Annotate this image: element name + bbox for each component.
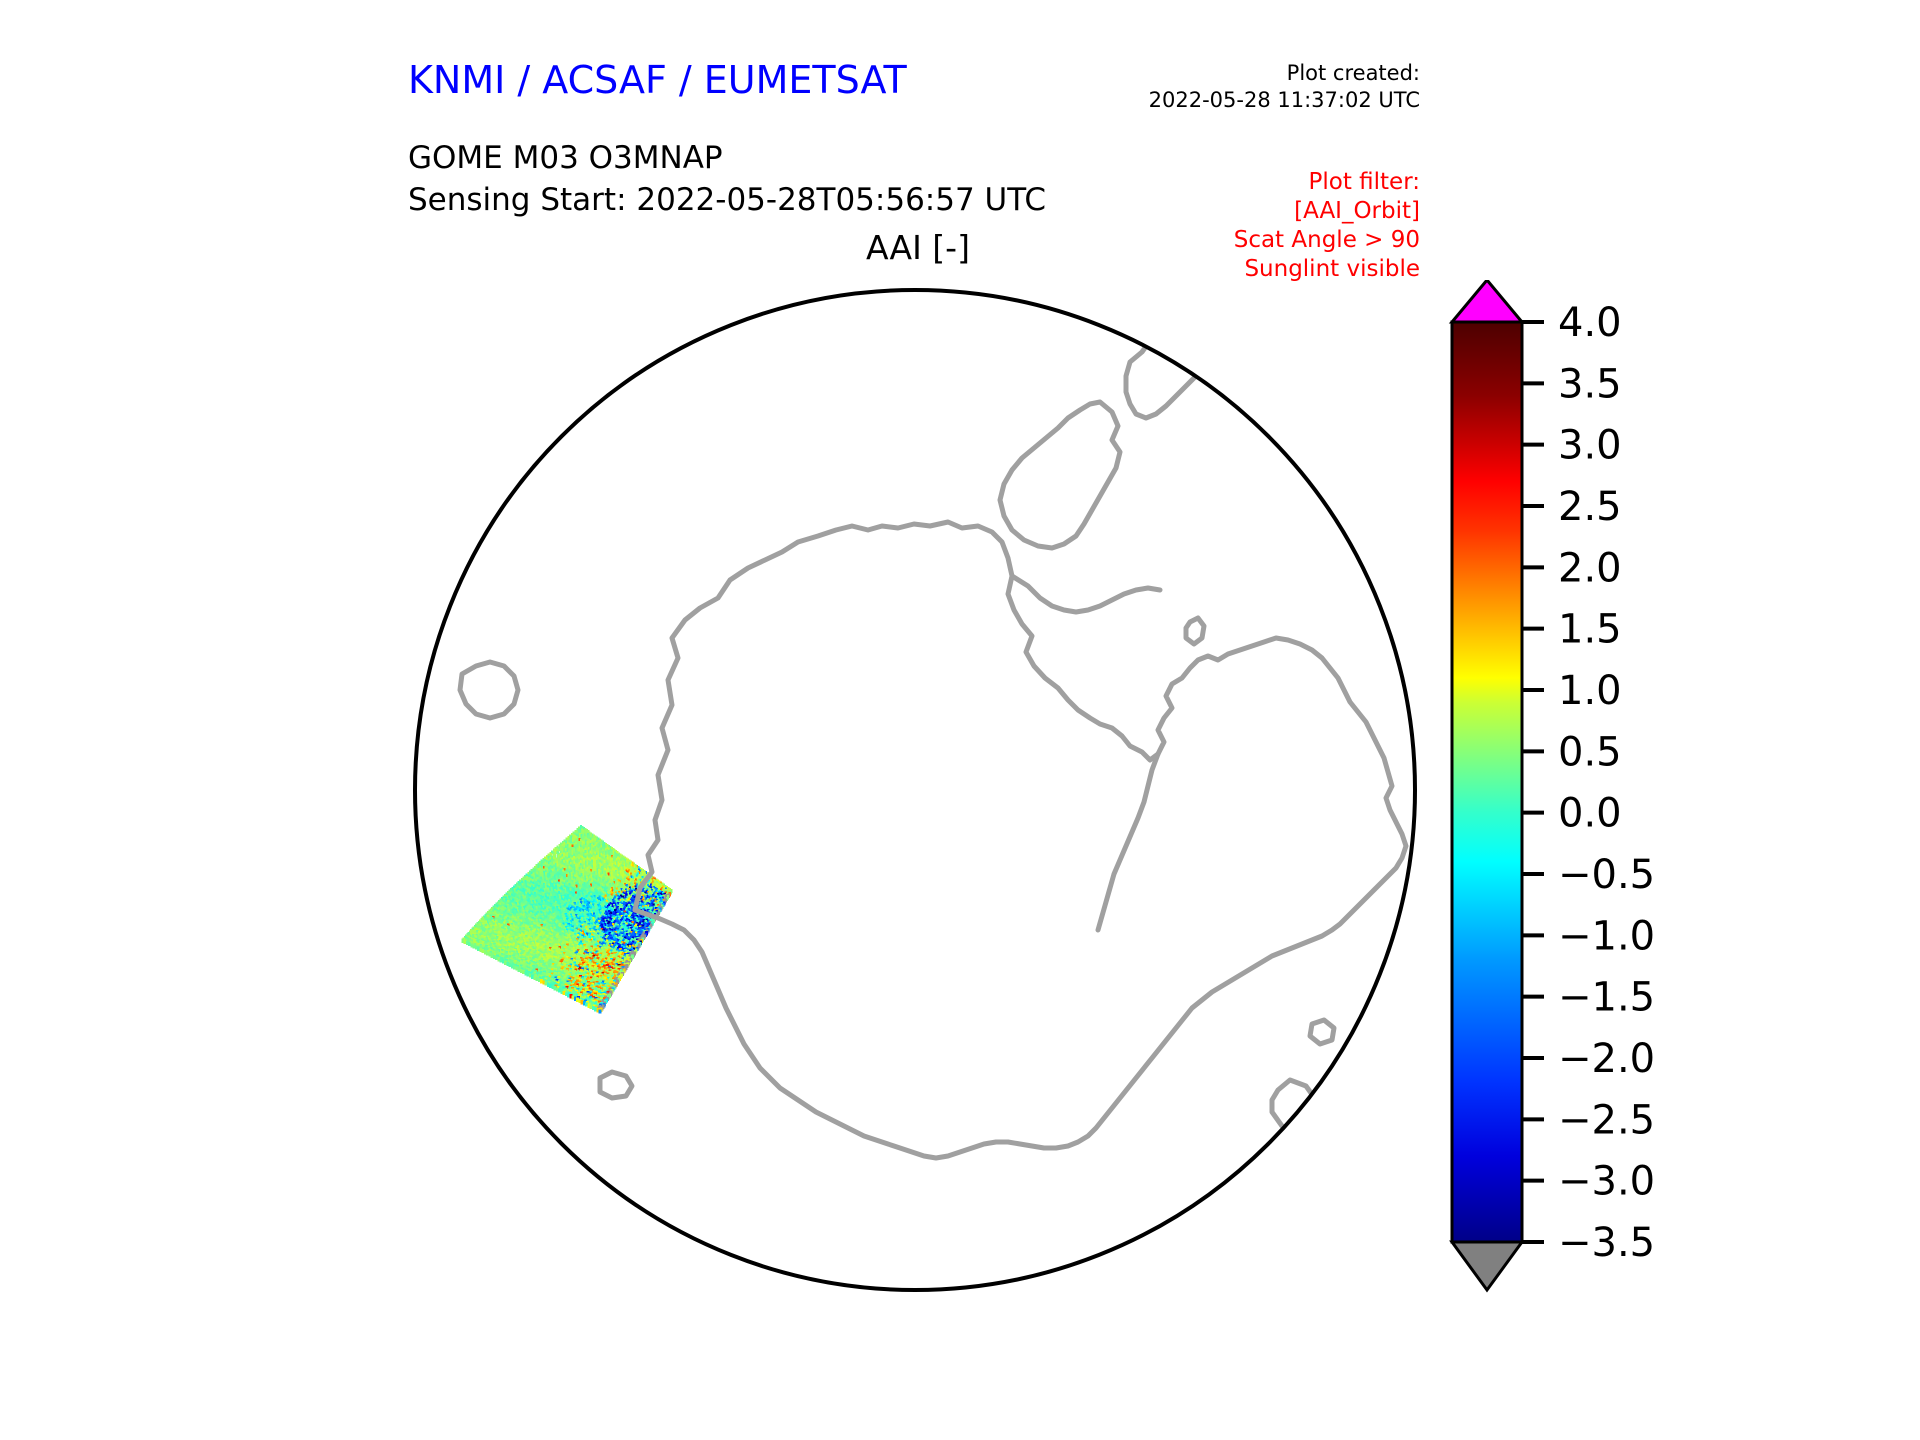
brand-title: KNMI / ACSAF / EUMETSAT (408, 58, 907, 102)
swath-pixel (477, 947, 480, 951)
swath-pixel (461, 939, 464, 943)
swath-pixel (479, 948, 482, 952)
colorbar-tick-label: −2.0 (1558, 1036, 1655, 1082)
swath-pixel (468, 942, 471, 946)
globe-disc (415, 290, 1415, 1290)
colorbar-tick-label: 3.0 (1558, 423, 1622, 469)
colorbar-tick-label: −2.5 (1558, 1097, 1655, 1143)
plot-filter-block: Plot filter: [AAI_Orbit] Scat Angle > 90… (1234, 168, 1420, 284)
colorbar-canvas: 4.03.53.02.52.01.51.00.50.0−0.5−1.0−1.5−… (1432, 280, 1732, 1320)
colorbar-tick-label: 3.5 (1558, 361, 1622, 407)
colorbar-tick-label: 0.5 (1558, 729, 1622, 775)
polar-map (400, 280, 1430, 1310)
swath-pixel (473, 944, 476, 948)
swath-pixel (470, 943, 473, 947)
plot-filter-condition: Scat Angle > 90 (1234, 226, 1420, 255)
plot-filter-product: [AAI_Orbit] (1234, 197, 1420, 226)
coastline-south-america-inner (1402, 970, 1430, 1170)
colorbar-tick-label: −1.0 (1558, 913, 1655, 959)
colorbar-tick-label: 2.0 (1558, 545, 1622, 591)
coastline-south-america (1406, 946, 1430, 1136)
colorbar-tick-label: −3.0 (1558, 1159, 1655, 1205)
colorbar-tick-label: −0.5 (1558, 852, 1655, 898)
plot-page: KNMI / ACSAF / EUMETSAT GOME M03 O3MNAP … (0, 0, 1920, 1440)
colorbar-tick-label: 1.5 (1558, 607, 1622, 653)
colorbar-tick-label: 0.0 (1558, 791, 1622, 837)
plot-created-value: 2022-05-28 11:37:02 UTC (1149, 87, 1420, 114)
plot-created-label: Plot created: (1149, 60, 1420, 87)
dataset-name: GOME M03 O3MNAP (408, 137, 1046, 179)
swath-pixel (466, 941, 469, 945)
swath-pixel (464, 940, 467, 944)
colorbar-over-range-arrow (1452, 280, 1522, 322)
colorbar-tick-label: 1.0 (1558, 668, 1622, 714)
colorbar-gradient-bar (1452, 322, 1522, 1242)
colorbar-ticks: 4.03.53.02.52.01.51.00.50.0−0.5−1.0−1.5−… (1522, 300, 1655, 1266)
map-canvas (400, 280, 1430, 1310)
dataset-info: GOME M03 O3MNAP Sensing Start: 2022-05-2… (408, 137, 1046, 221)
colorbar-under-range-arrow (1452, 1242, 1522, 1290)
colorbar-tick-label: −1.5 (1558, 975, 1655, 1021)
swath-pixel (599, 1009, 602, 1013)
colorbar: 4.03.53.02.52.01.51.00.50.0−0.5−1.0−1.5−… (1432, 280, 1732, 1320)
sensing-start: Sensing Start: 2022-05-28T05:56:57 UTC (408, 179, 1046, 221)
plot-created-block: Plot created: 2022-05-28 11:37:02 UTC (1149, 60, 1420, 114)
swath-pixel (475, 946, 478, 950)
colorbar-tick-label: 4.0 (1558, 300, 1622, 346)
plot-filter-label: Plot filter: (1234, 168, 1420, 197)
colorbar-tick-label: −3.5 (1558, 1220, 1655, 1266)
colorbar-tick-label: 2.5 (1558, 484, 1622, 530)
